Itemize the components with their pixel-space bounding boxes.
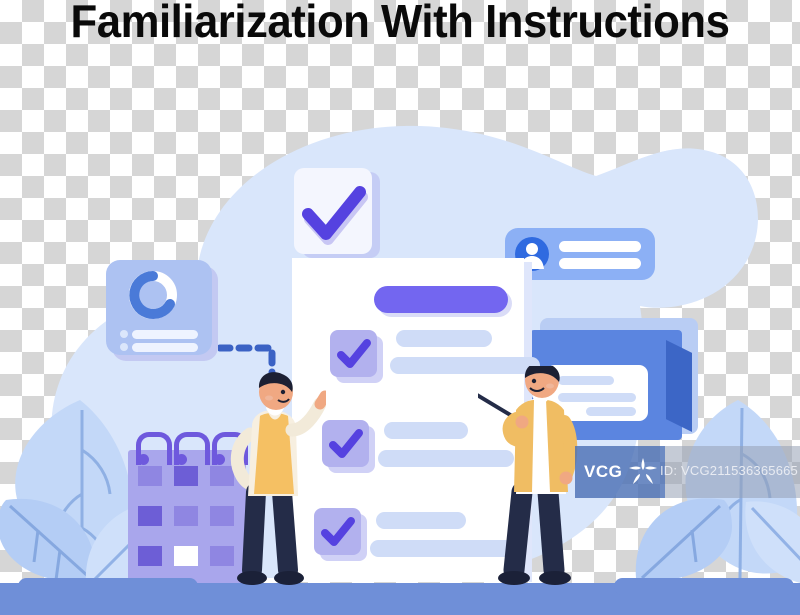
calendar-cell (138, 466, 162, 486)
list-row (132, 330, 198, 339)
leaf-right-extra (740, 496, 800, 590)
item-text-bar (384, 422, 468, 439)
message-line (559, 241, 641, 252)
watermark-logo-box: VCG (575, 446, 665, 498)
illustration-canvas: VCG ID: VCG211536365665 Familiarization … (0, 0, 800, 615)
list-bullet (120, 330, 128, 338)
donut-chart-icon (126, 268, 180, 322)
calendar-ring-dot (176, 454, 187, 465)
message-line (559, 258, 641, 269)
page-title: Familiarization With Instructions (20, 0, 780, 48)
ground-pill-right (614, 578, 794, 595)
checkmark-icon (322, 420, 369, 467)
list-row (132, 343, 198, 352)
person-pointing (226, 372, 326, 590)
checkbox-checked[interactable] (322, 420, 369, 467)
vcg-flower-icon (627, 456, 659, 488)
item-text-bar (376, 512, 466, 529)
calendar-ring-dot (214, 454, 225, 465)
analytics-card (106, 260, 212, 355)
checkmark-icon (330, 330, 377, 377)
calendar-cell (138, 546, 162, 566)
list-bullet (120, 343, 128, 351)
check-card (294, 168, 372, 254)
checkbox-checked[interactable] (330, 330, 377, 377)
document-title-pill (374, 286, 508, 313)
calendar-cell (174, 506, 198, 526)
leaf-right-small (628, 486, 736, 588)
watermark-id: ID: VCG211536365665 (660, 463, 798, 478)
calendar-cell-today (174, 546, 198, 566)
ground-pill-left (18, 578, 198, 595)
item-text-bar (396, 330, 492, 347)
calendar-cell (138, 506, 162, 526)
calendar-cell (174, 466, 198, 486)
watermark-brand: VCG (584, 462, 622, 482)
checkmark-icon (294, 168, 372, 254)
calendar-ring-dot (138, 454, 149, 465)
folder-spine (666, 340, 692, 432)
